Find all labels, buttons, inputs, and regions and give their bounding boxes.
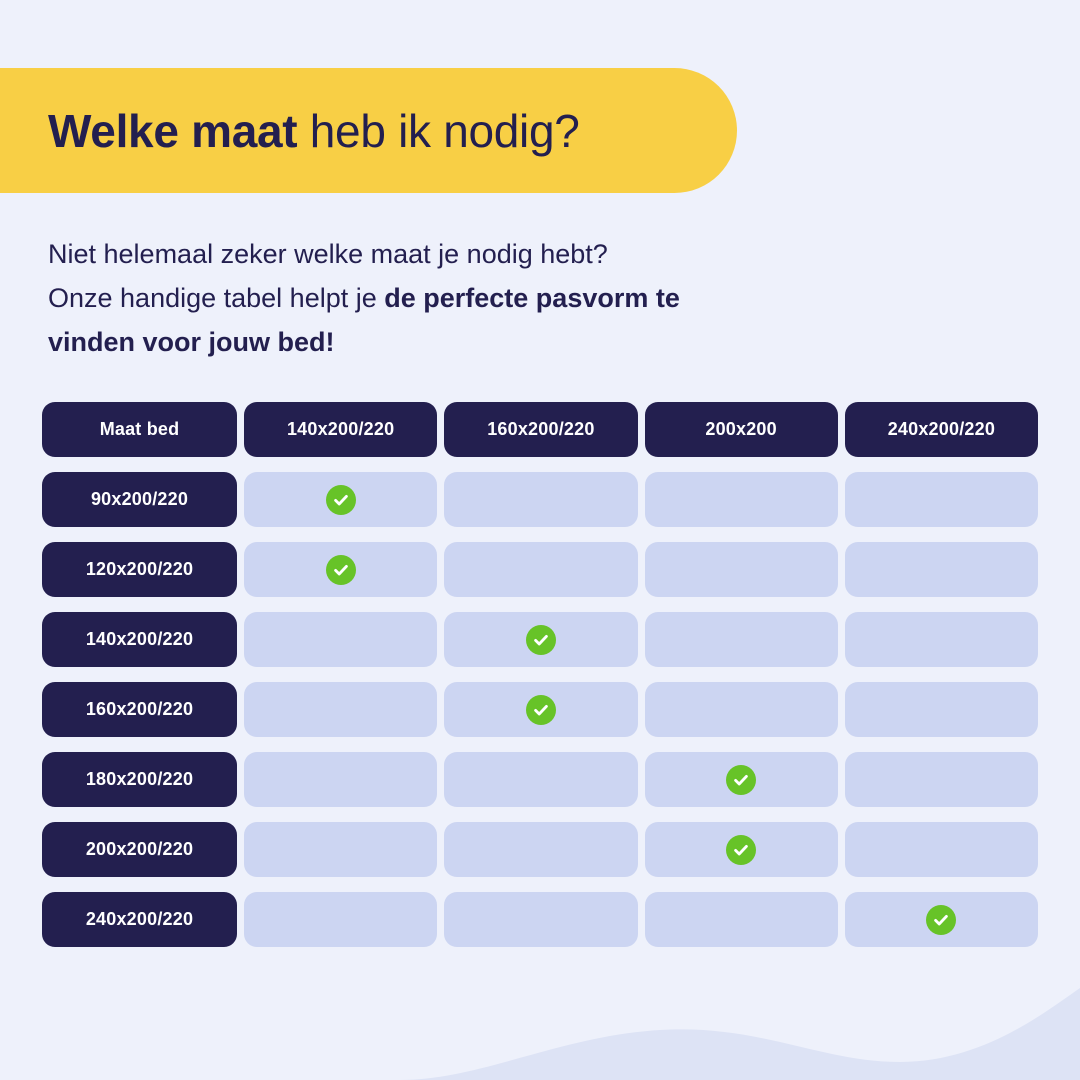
table-row: 90x200/220 — [42, 472, 1038, 527]
intro-line-3-bold: vinden voor jouw bed! — [48, 327, 335, 357]
table-row-label: 200x200/220 — [42, 822, 237, 877]
table-cell — [244, 682, 437, 737]
table-row-label: 180x200/220 — [42, 752, 237, 807]
table-row-label: 90x200/220 — [42, 472, 237, 527]
table-cell — [845, 822, 1038, 877]
table-cell — [645, 682, 838, 737]
page-title-light: heb ik nodig? — [297, 105, 579, 157]
table-cell — [244, 892, 437, 947]
check-circle-icon — [926, 905, 956, 935]
table-header-cell-1: 140x200/220 — [244, 402, 437, 457]
table-row: 180x200/220 — [42, 752, 1038, 807]
table-cell — [645, 472, 838, 527]
intro-line-1: Niet helemaal zeker welke maat je nodig … — [48, 239, 608, 269]
table-cell — [845, 542, 1038, 597]
table-cell — [444, 472, 637, 527]
table-cell — [244, 472, 437, 527]
table-cell — [645, 542, 838, 597]
table-cell — [645, 892, 838, 947]
table-header-cell-0: Maat bed — [42, 402, 237, 457]
bottom-wave-decoration — [0, 970, 1080, 1080]
table-cell — [444, 612, 637, 667]
table-row: 120x200/220 — [42, 542, 1038, 597]
table-cell — [645, 822, 838, 877]
table-cell — [845, 472, 1038, 527]
table-cell — [444, 752, 637, 807]
size-comparison-table: Maat bed 140x200/220 160x200/220 200x200… — [42, 402, 1038, 947]
check-circle-icon — [326, 485, 356, 515]
intro-line-2-bold: de perfecte pasvorm te — [384, 283, 680, 313]
intro-paragraph: Niet helemaal zeker welke maat je nodig … — [48, 232, 928, 364]
table-cell — [244, 612, 437, 667]
table-cell — [845, 612, 1038, 667]
intro-line-2-plain: Onze handige tabel helpt je — [48, 283, 384, 313]
table-cell — [845, 682, 1038, 737]
check-circle-icon — [726, 835, 756, 865]
table-row: 160x200/220 — [42, 682, 1038, 737]
table-header-cell-3: 200x200 — [645, 402, 838, 457]
page-title: Welke maat heb ik nodig? — [48, 108, 580, 154]
table-cell — [444, 822, 637, 877]
table-row-label: 120x200/220 — [42, 542, 237, 597]
table-row: 200x200/220 — [42, 822, 1038, 877]
table-row: 140x200/220 — [42, 612, 1038, 667]
table-cell — [244, 822, 437, 877]
table-row-label: 240x200/220 — [42, 892, 237, 947]
table-header-cell-4: 240x200/220 — [845, 402, 1038, 457]
table-cell — [444, 542, 637, 597]
table-header-cell-2: 160x200/220 — [444, 402, 637, 457]
check-circle-icon — [326, 555, 356, 585]
table-header-row: Maat bed 140x200/220 160x200/220 200x200… — [42, 402, 1038, 457]
table-cell — [645, 612, 838, 667]
table-cell — [444, 892, 637, 947]
header-banner: Welke maat heb ik nodig? — [0, 68, 737, 193]
table-cell — [444, 682, 637, 737]
table-cell — [244, 542, 437, 597]
table-cell — [845, 752, 1038, 807]
table-row-label: 140x200/220 — [42, 612, 237, 667]
check-circle-icon — [526, 695, 556, 725]
table-row-label: 160x200/220 — [42, 682, 237, 737]
table-cell — [845, 892, 1038, 947]
table-row: 240x200/220 — [42, 892, 1038, 947]
table-cell — [244, 752, 437, 807]
check-circle-icon — [726, 765, 756, 795]
check-circle-icon — [526, 625, 556, 655]
table-cell — [645, 752, 838, 807]
page-title-bold: Welke maat — [48, 105, 297, 157]
